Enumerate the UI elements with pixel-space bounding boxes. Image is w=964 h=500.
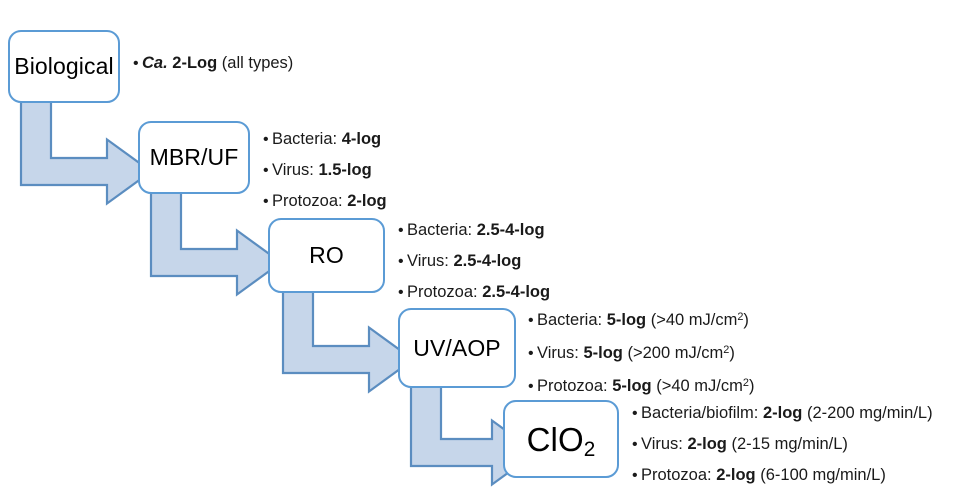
bullet-dot-icon: • — [398, 246, 407, 277]
bullet-item: •Bacteria: 4-log — [263, 124, 387, 155]
bullet-dot-icon: • — [632, 429, 641, 460]
stage-box-ro[interactable]: RO — [268, 218, 385, 293]
bullet-text-part: ) — [743, 311, 749, 329]
bullet-text-part: 5-log — [607, 311, 646, 329]
bullet-text: Virus: 2-log (2-15 mg/min/L) — [641, 429, 848, 460]
bullet-dot-icon: • — [632, 460, 641, 491]
bullet-text-part: 4-log — [342, 130, 381, 148]
bullet-text: Bacteria: 4-log — [272, 124, 381, 155]
bullet-text-part: 2 — [743, 377, 749, 389]
bullet-list-uv-aop: •Bacteria: 5-log (>40 mJ/cm2)•Virus: 5-l… — [528, 305, 754, 404]
stage-box-biological[interactable]: Biological — [8, 30, 120, 103]
bullet-list-biological: •Ca. 2-Log (all types) — [133, 48, 293, 79]
bullet-dot-icon: • — [528, 338, 537, 369]
stage-box-clo2[interactable]: ClO2 — [503, 400, 619, 478]
bullet-text: Ca. 2-Log (all types) — [142, 48, 293, 79]
bullet-text-part: (>200 mJ/cm — [623, 344, 723, 362]
bullet-text: Protozoa: 2.5-4-log — [407, 277, 550, 308]
bullet-list-ro: •Bacteria: 2.5-4-log•Virus: 2.5-4-log•Pr… — [398, 215, 550, 308]
bullet-item: •Protozoa: 2-log — [263, 186, 387, 217]
bullet-dot-icon: • — [263, 124, 272, 155]
bullet-list-mbr-uf: •Bacteria: 4-log•Virus: 1.5-log•Protozoa… — [263, 124, 387, 217]
bullet-text-part: 2-log — [687, 435, 726, 453]
bullet-text-part: Protozoa: — [407, 283, 482, 301]
bullet-item: •Virus: 5-log (>200 mJ/cm2) — [528, 338, 754, 371]
stage-label-ro: RO — [309, 244, 344, 267]
stage-box-uv-aop[interactable]: UV/AOP — [398, 308, 516, 388]
bullet-text-part: 2-log — [716, 466, 755, 484]
stage-label-subscript-clo2: 2 — [584, 438, 596, 461]
bullet-text-part: Bacteria: — [537, 311, 607, 329]
bullet-text-part: 2.5-4-log — [477, 221, 545, 239]
bullet-text-part: Protozoa: — [272, 192, 347, 210]
bullet-text-part: (2-200 mg/min/L) — [802, 404, 932, 422]
bullet-item: •Bacteria: 2.5-4-log — [398, 215, 550, 246]
bullet-text-part: (>40 mJ/cm — [646, 311, 737, 329]
bullet-dot-icon: • — [398, 277, 407, 308]
bullet-text-part: (>40 mJ/cm — [652, 377, 743, 395]
bullet-text-part: Protozoa: — [537, 377, 612, 395]
bullet-text-part: Bacteria: — [407, 221, 477, 239]
bullet-text-part: 2.5-4-log — [482, 283, 550, 301]
bullet-text-part: 2.5-4-log — [453, 252, 521, 270]
connector-arrow-mbr-uf-to-ro — [151, 191, 281, 295]
bullet-text-part: 2-log — [347, 192, 386, 210]
treatment-train-diagram: BiologicalMBR/UFROUV/AOPClO2•Ca. 2-Log (… — [0, 0, 964, 500]
bullet-list-clo2: •Bacteria/biofilm: 2-log (2-200 mg/min/L… — [632, 398, 933, 491]
bullet-item: •Bacteria: 5-log (>40 mJ/cm2) — [528, 305, 754, 338]
bullet-text-part: 2-Log — [168, 54, 218, 72]
bullet-dot-icon: • — [398, 215, 407, 246]
bullet-text-part: 5-log — [583, 344, 622, 362]
bullet-text-part: Virus: — [641, 435, 687, 453]
bullet-item: •Bacteria/biofilm: 2-log (2-200 mg/min/L… — [632, 398, 933, 429]
bullet-item: •Ca. 2-Log (all types) — [133, 48, 293, 79]
bullet-item: •Protozoa: 2-log (6-100 mg/min/L) — [632, 460, 933, 491]
bullet-text: Protozoa: 2-log (6-100 mg/min/L) — [641, 460, 886, 491]
bullet-text-part: Virus: — [407, 252, 453, 270]
bullet-item: •Virus: 1.5-log — [263, 155, 387, 186]
connector-arrow-ro-to-uv-aop — [283, 289, 413, 392]
bullet-text: Virus: 1.5-log — [272, 155, 372, 186]
bullet-dot-icon: • — [133, 48, 142, 79]
bullet-text: Bacteria: 2.5-4-log — [407, 215, 545, 246]
bullet-dot-icon: • — [263, 155, 272, 186]
bullet-text: Virus: 5-log (>200 mJ/cm2) — [537, 338, 735, 371]
bullet-text-part: Bacteria: — [272, 130, 342, 148]
stage-label-biological: Biological — [14, 55, 113, 78]
bullet-text-part: 1.5-log — [318, 161, 371, 179]
bullet-dot-icon: • — [263, 186, 272, 217]
bullet-dot-icon: • — [528, 371, 537, 402]
bullet-dot-icon: • — [632, 398, 641, 429]
bullet-text-part: 2 — [723, 344, 729, 356]
bullet-text-part: 5-log — [612, 377, 651, 395]
stage-label-mbr-uf: MBR/UF — [150, 146, 239, 169]
bullet-text-part: (2-15 mg/min/L) — [727, 435, 848, 453]
connector-arrow-biological-to-mbr-uf — [21, 100, 151, 204]
bullet-text-part: Ca. — [142, 54, 168, 72]
bullet-dot-icon: • — [528, 305, 537, 336]
stage-label-clo2: ClO2 — [527, 423, 596, 456]
bullet-text-part: Bacteria/biofilm: — [641, 404, 763, 422]
bullet-text-part: Virus: — [272, 161, 318, 179]
bullet-text-part: ) — [749, 377, 755, 395]
bullet-text-part: 2 — [737, 311, 743, 323]
stage-label-uv-aop: UV/AOP — [413, 337, 501, 360]
bullet-text-part: ) — [729, 344, 735, 362]
stage-box-mbr-uf[interactable]: MBR/UF — [138, 121, 250, 194]
bullet-text: Virus: 2.5-4-log — [407, 246, 521, 277]
bullet-text: Bacteria: 5-log (>40 mJ/cm2) — [537, 305, 749, 338]
bullet-text-part: (all types) — [217, 54, 293, 72]
bullet-item: •Virus: 2-log (2-15 mg/min/L) — [632, 429, 933, 460]
bullet-item: •Protozoa: 2.5-4-log — [398, 277, 550, 308]
bullet-text: Protozoa: 2-log — [272, 186, 387, 217]
bullet-text: Bacteria/biofilm: 2-log (2-200 mg/min/L) — [641, 398, 933, 429]
bullet-text-part: Virus: — [537, 344, 583, 362]
bullet-text-part: (6-100 mg/min/L) — [756, 466, 886, 484]
bullet-text-part: 2-log — [763, 404, 802, 422]
bullet-text-part: Protozoa: — [641, 466, 716, 484]
bullet-item: •Virus: 2.5-4-log — [398, 246, 550, 277]
